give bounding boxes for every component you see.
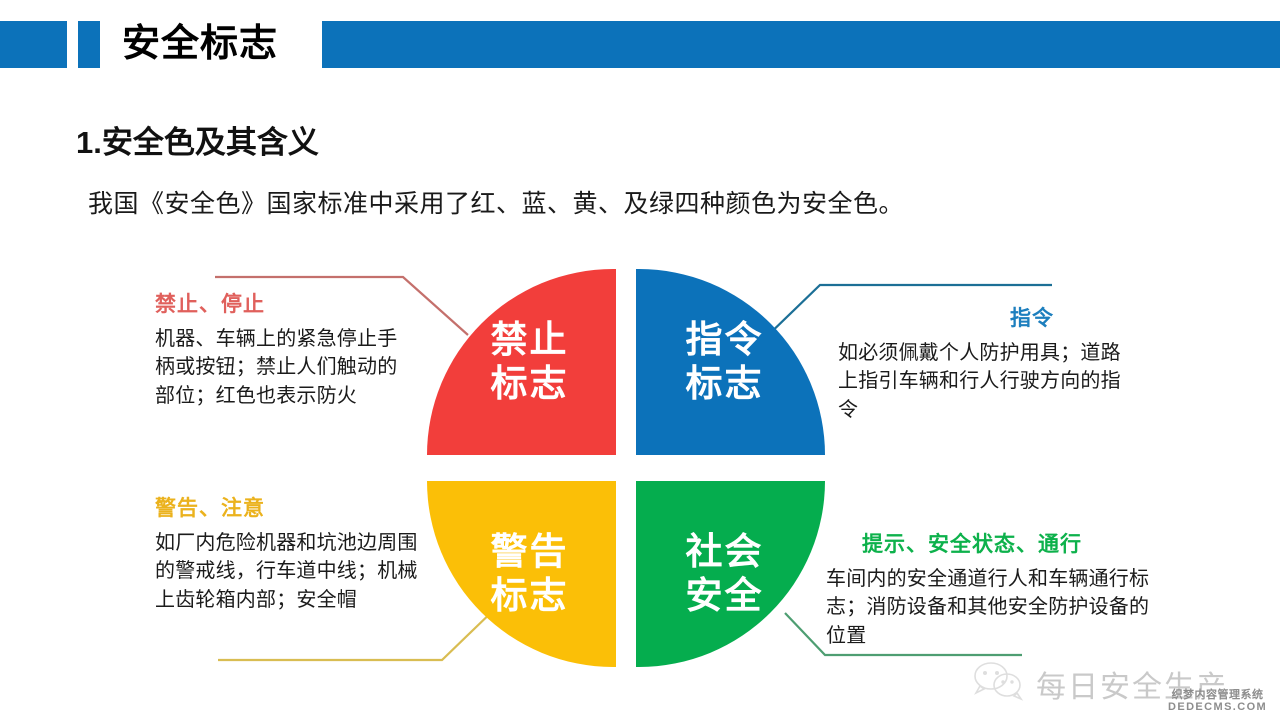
watermark-dedecms: 织梦内容管理系统 DEDECMS.COM [1168, 690, 1267, 713]
callout-warning: 警告、注意 如厂内危险机器和坑池边周围的警戒线，行车道中线；机械上齿轮箱内部；安… [155, 492, 425, 614]
callout-warning-title: 警告、注意 [155, 492, 425, 522]
callout-instruct-title: 指令 [1010, 302, 1138, 332]
callout-prohibit-title: 禁止、停止 [155, 288, 417, 318]
callout-social: 提示、安全状态、通行 车间内的安全通道行人和车辆通行标志；消防设备和其他安全防护… [826, 528, 1156, 650]
wheel-quadrant-prohibit-label: 禁止 标志 [491, 318, 569, 405]
wheel-quadrant-warning-label: 警告 标志 [491, 530, 569, 617]
watermark-dedecms-cn: 织梦内容管理系统 [1168, 690, 1267, 702]
callout-social-title: 提示、安全状态、通行 [862, 528, 1156, 558]
wheel-quadrant-instruct[interactable]: 指令 标志 [636, 269, 825, 455]
header-bar-left-block [0, 21, 67, 68]
wheel-quadrant-instruct-label: 指令 标志 [686, 318, 764, 405]
page-title: 安全标志 [122, 17, 278, 71]
callout-social-body: 车间内的安全通道行人和车辆通行标志；消防设备和其他安全防护设备的位置 [826, 565, 1156, 650]
safety-color-wheel: 禁止 标志 指令 标志 警告 标志 社会 安全 [427, 269, 825, 667]
slide-canvas: 安全标志 1.安全色及其含义 我国《安全色》国家标准中采用了红、蓝、黄、及绿四种… [0, 0, 1280, 720]
callout-warning-body: 如厂内危险机器和坑池边周围的警戒线，行车道中线；机械上齿轮箱内部；安全帽 [155, 529, 425, 614]
header-bar-right-block [322, 21, 1280, 68]
callout-instruct-body: 如必须佩戴个人防护用具；道路上指引车辆和行人行驶方向的指令 [838, 339, 1138, 424]
watermark-dedecms-en: DEDECMS.COM [1168, 702, 1267, 714]
callout-instruct: 指令 如必须佩戴个人防护用具；道路上指引车辆和行人行驶方向的指令 [838, 302, 1138, 424]
section-heading: 1.安全色及其含义 [76, 117, 319, 162]
wheel-quadrant-social[interactable]: 社会 安全 [636, 481, 825, 667]
callout-prohibit-body: 机器、车辆上的紧急停止手柄或按钮；禁止人们触动的部位；红色也表示防火 [155, 325, 417, 410]
wheel-quadrant-warning[interactable]: 警告 标志 [427, 481, 616, 667]
wechat-icon [972, 660, 1024, 702]
wheel-quadrant-prohibit[interactable]: 禁止 标志 [427, 269, 616, 455]
intro-paragraph: 我国《安全色》国家标准中采用了红、蓝、黄、及绿四种颜色为安全色。 [88, 184, 904, 220]
callout-prohibit: 禁止、停止 机器、车辆上的紧急停止手柄或按钮；禁止人们触动的部位；红色也表示防火 [155, 288, 417, 410]
wheel-quadrant-social-label: 社会 安全 [686, 530, 764, 617]
header-bar-accent-block [78, 21, 100, 68]
